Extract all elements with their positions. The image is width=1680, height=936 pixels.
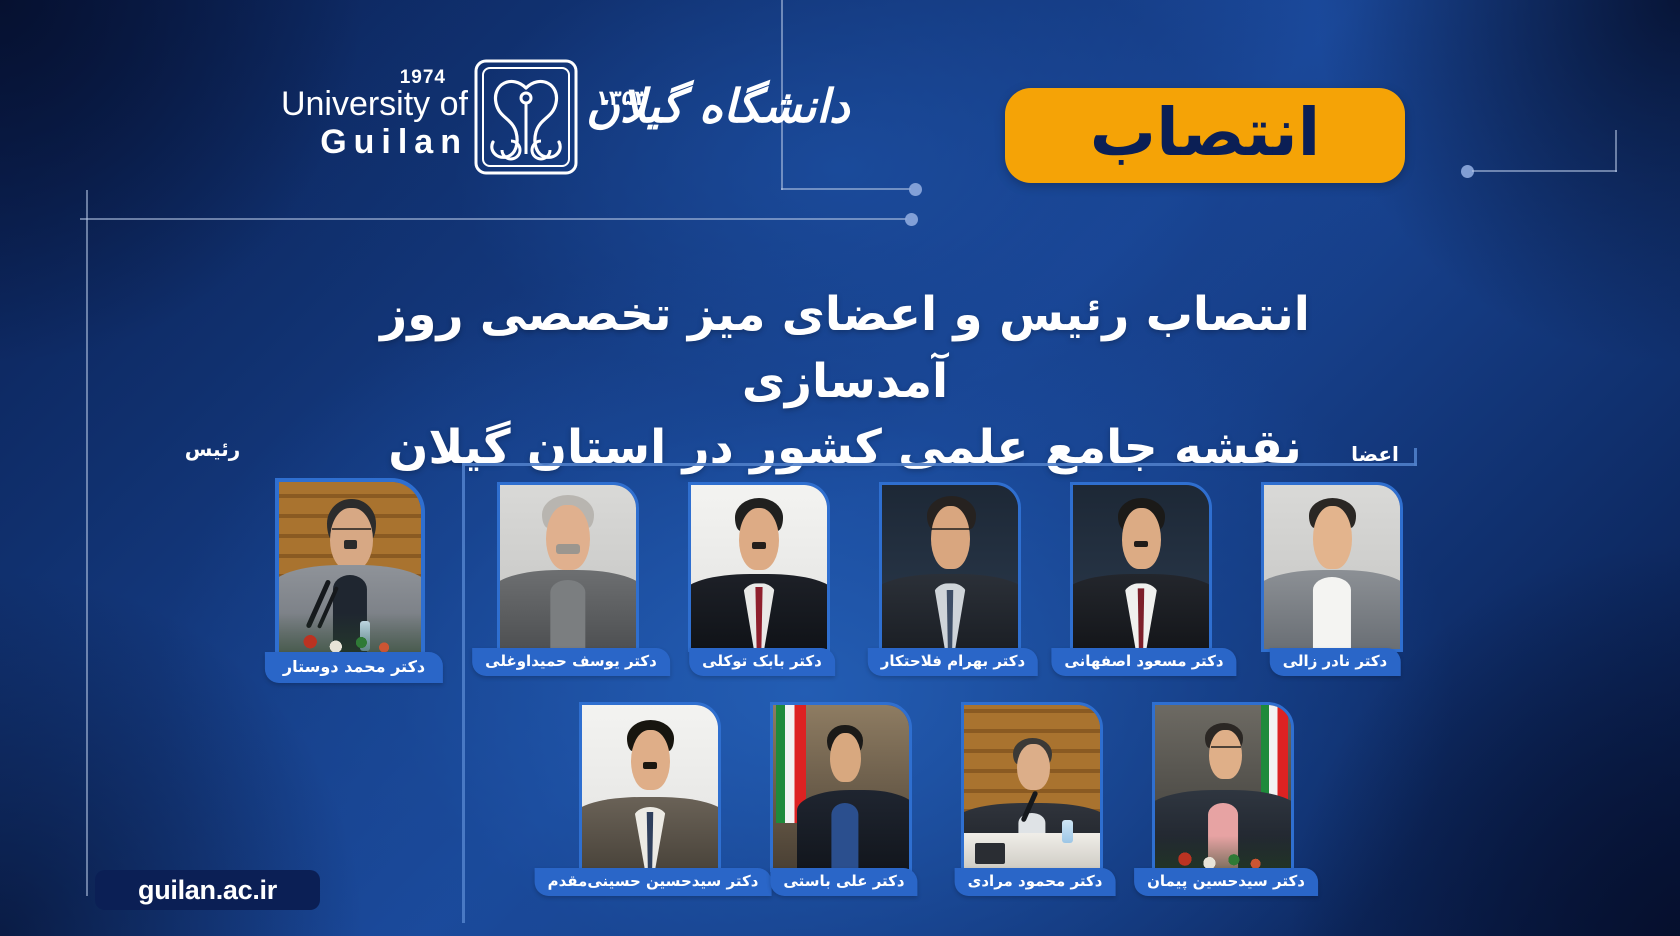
deco-vline-right <box>1615 130 1617 172</box>
university-logo: 1974 University of Guilan ۱۳۵۳ دانشگاه گ… <box>150 58 750 178</box>
portrait-seyed-hossein-peyman-image <box>1155 705 1291 869</box>
website-badge[interactable]: guilan.ac.ir <box>95 870 320 910</box>
portrait-seyed-hossein-hosseini-moghaddam-image <box>582 705 718 869</box>
members-bracket-vertical-left <box>462 463 465 923</box>
page-title: انتصاب رئیس و اعضای میز تخصصی روز آمدساز… <box>330 282 1360 482</box>
member-photo-frame <box>1070 482 1212 652</box>
deco-dot-upper <box>909 183 922 196</box>
member-card[interactable]: دکتر مسعود اصفهانی <box>1076 482 1212 646</box>
member-card[interactable]: دکتر بهرام فلاحتکار <box>885 482 1021 646</box>
chair-photo-frame <box>275 478 425 658</box>
deco-dot-long <box>905 213 918 226</box>
member-photo-frame <box>688 482 830 652</box>
page-title-line2: نقشه جامع علمی کشور در استان گیلان <box>330 415 1360 482</box>
portrait-mohammad-doustar-image <box>279 482 421 654</box>
deco-vline-left <box>86 190 88 896</box>
portrait-ali-basti-image <box>773 705 909 869</box>
member-photo-frame <box>497 482 639 652</box>
member-photo-frame <box>579 702 721 872</box>
member-photo-frame <box>879 482 1021 652</box>
portrait-babak-tavakoli-image <box>691 485 827 649</box>
chair-caption: دکتر محمد دوستار <box>265 652 443 683</box>
deco-hline-upper <box>781 188 911 190</box>
member-card[interactable]: دکتر علی باستی <box>776 702 912 866</box>
member-photo-frame <box>961 702 1103 872</box>
member-card[interactable]: دکتر سیدحسین حسینی‌مقدم <box>585 702 721 866</box>
portrait-yousef-hamidoghli-image <box>500 485 636 649</box>
deco-hline-long <box>80 218 907 220</box>
member-card[interactable]: دکتر بابک توکلی <box>694 482 830 646</box>
logo-line2-en: Guilan <box>150 123 468 162</box>
member-card[interactable]: دکتر یوسف حمیداوغلی <box>503 482 639 646</box>
portrait-bahram-falahatkar-image <box>882 485 1018 649</box>
logo-persian-text: ۱۳۵۳ دانشگاه گیلان <box>586 64 846 180</box>
member-card[interactable]: دکتر محمود مرادی <box>967 702 1103 866</box>
member-caption: دکتر علی باستی <box>770 868 917 896</box>
member-photo-frame <box>1261 482 1403 652</box>
section-label-chair: رئیس <box>0 437 425 461</box>
announcement-badge: انتصاب <box>1005 88 1405 183</box>
portrait-masoud-esfahani-image <box>1073 485 1209 649</box>
guilan-university-emblem-icon <box>472 58 580 176</box>
member-caption: دکتر نادر زالی <box>1270 648 1401 676</box>
portrait-nader-zali-image <box>1264 485 1400 649</box>
member-caption: دکتر یوسف حمیداوغلی <box>472 648 670 676</box>
website-label: guilan.ac.ir <box>138 875 277 906</box>
members-bracket-horizontal <box>462 463 1417 466</box>
member-card[interactable]: دکتر سیدحسین پیمان <box>1158 702 1294 866</box>
announcement-badge-label: انتصاب <box>1090 100 1320 166</box>
member-caption: دکتر سیدحسین پیمان <box>1134 868 1318 896</box>
member-photo-frame <box>1152 702 1294 872</box>
logo-line1-en: University of <box>150 87 468 123</box>
members-bracket-vertical-right <box>1414 448 1417 466</box>
member-photo-frame <box>770 702 912 872</box>
page-title-line1: انتصاب رئیس و اعضای میز تخصصی روز آمدساز… <box>330 282 1360 415</box>
chair-card[interactable]: دکتر محمد دوستار <box>283 478 425 650</box>
member-card[interactable]: دکتر نادر زالی <box>1267 482 1403 646</box>
member-caption: دکتر بهرام فلاحتکار <box>868 648 1038 676</box>
member-caption: دکتر سیدحسین حسینی‌مقدم <box>535 868 772 896</box>
portrait-mahmoud-moradi-image <box>964 705 1100 869</box>
logo-name-fa: دانشگاه گیلان <box>586 72 838 141</box>
member-caption: دکتر مسعود اصفهانی <box>1051 648 1236 676</box>
logo-english-text: 1974 University of Guilan <box>150 68 468 162</box>
deco-hline-right <box>1472 170 1617 172</box>
announcement-poster: 1974 University of Guilan ۱۳۵۳ دانشگاه گ… <box>0 0 1680 936</box>
member-caption: دکتر بابک توکلی <box>689 648 835 676</box>
member-caption: دکتر محمود مرادی <box>955 868 1116 896</box>
